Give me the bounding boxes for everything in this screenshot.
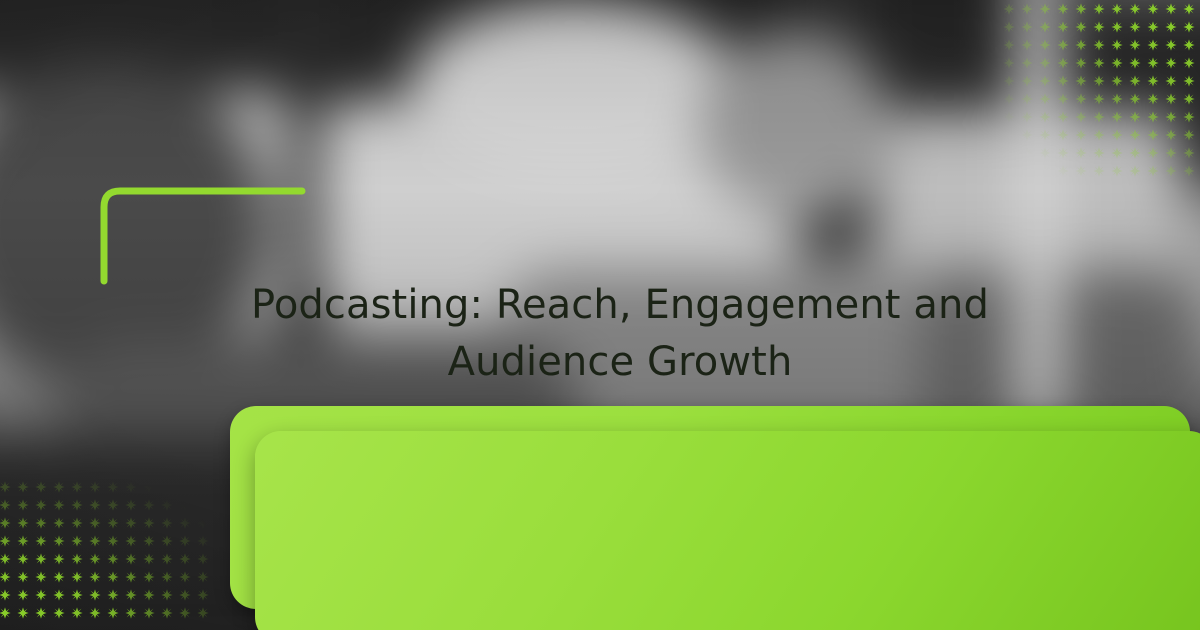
page-title: Podcasting: Reach, Engagement and Audien… <box>140 228 1100 440</box>
title-card-canvas: Podcasting: Reach, Engagement and Audien… <box>0 0 1200 630</box>
card-front-layer <box>255 431 1200 630</box>
